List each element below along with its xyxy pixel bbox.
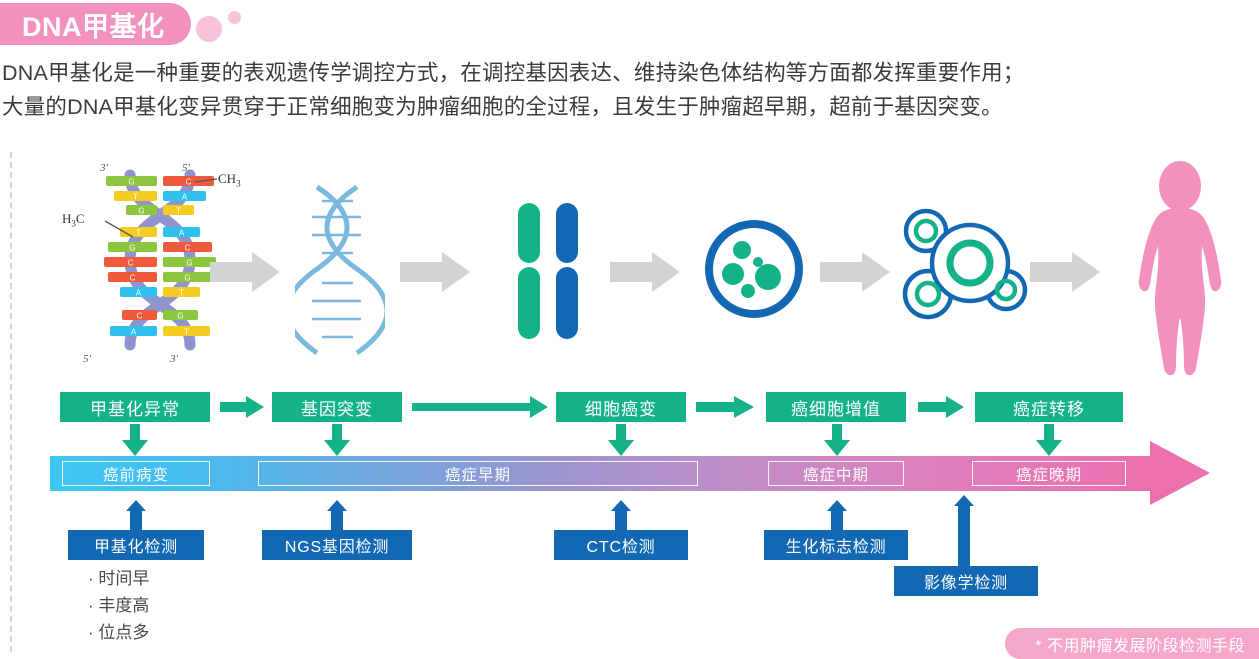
process-step-3[interactable]: 细胞癌变 [556, 392, 686, 422]
process-arrow-1 [220, 396, 266, 418]
process-down-arrow-1 [122, 424, 148, 456]
svg-text:T: T [133, 193, 138, 202]
process-arrow-2 [412, 396, 550, 418]
normal-cell-icon [700, 215, 810, 325]
detection-item-3[interactable]: CTC检测 [554, 530, 688, 560]
human-body-icon [1125, 160, 1235, 380]
svg-text:G: G [138, 207, 144, 216]
svg-text:T: T [184, 328, 189, 337]
svg-text:G: G [128, 178, 134, 187]
detection-arrow-stem-5 [958, 504, 970, 566]
intro-line-1: DNA甲基化是一种重要的表观遗传学调控方式，在调控基因表达、维持染色体结构等方面… [2, 56, 1242, 90]
svg-text:G: G [186, 259, 192, 268]
process-arrow-3 [696, 396, 756, 418]
flow-arrow-grey-4 [820, 250, 895, 295]
detection-item-1[interactable]: 甲基化检测 [68, 530, 204, 560]
detection-item-5[interactable]: 影像学检测 [894, 566, 1038, 596]
advantage-item-1: · 时间早 [88, 565, 149, 592]
process-arrow-4 [918, 396, 966, 418]
svg-text:T: T [179, 289, 184, 298]
footnote-banner: * 不用肿瘤发展阶段检测手段 [1005, 628, 1259, 659]
svg-text:G: G [129, 244, 135, 253]
stage-segment-1[interactable]: 癌前病变 [62, 461, 210, 486]
process-step-4[interactable]: 癌细胞增值 [766, 392, 906, 422]
svg-text:T: T [136, 229, 141, 238]
illustration-strip: GCTAGTTAGCCGCGATCGAT 3' 5' 5' 3' CH3 H3C [0, 155, 1259, 385]
tumor-cell-cluster-icon [898, 205, 1028, 330]
dna-label-bottom-left: 5' [83, 353, 91, 365]
process-step-5[interactable]: 癌症转移 [975, 392, 1123, 422]
stage-bar-arrowhead [1150, 441, 1210, 505]
detection-arrow-stem-1 [130, 508, 142, 530]
stage-segment-3[interactable]: 癌症中期 [768, 461, 904, 486]
process-down-arrow-3 [608, 424, 634, 456]
svg-text:T: T [176, 207, 181, 216]
process-step-1[interactable]: 甲基化异常 [60, 392, 210, 422]
infographic-page: DNA甲基化 DNA甲基化是一种重要的表观遗传学调控方式，在调控基因表达、维持染… [0, 0, 1259, 659]
stage-segment-2[interactable]: 癌症早期 [258, 461, 698, 486]
flow-arrow-grey-1 [210, 250, 285, 295]
advantage-item-3: · 位点多 [88, 619, 149, 646]
process-down-arrow-4 [824, 424, 850, 456]
stage-segment-4[interactable]: 癌症晚期 [972, 461, 1126, 486]
chromosome-pair-icon [512, 203, 592, 343]
svg-text:C: C [186, 178, 192, 187]
decorative-dot-large [196, 16, 222, 42]
process-down-arrow-5 [1036, 424, 1062, 456]
svg-text:C: C [137, 312, 143, 321]
methyl-group-left-label: H3C [62, 211, 85, 229]
decorative-dot-small [228, 11, 241, 24]
dna-label-top-left: 3' [100, 162, 108, 174]
detection-item-2[interactable]: NGS基因检测 [262, 530, 412, 560]
flow-arrow-grey-5 [1030, 250, 1105, 295]
intro-paragraph: DNA甲基化是一种重要的表观遗传学调控方式，在调控基因表达、维持染色体结构等方面… [2, 56, 1242, 124]
svg-text:C: C [130, 274, 136, 283]
detection-item-4[interactable]: 生化标志检测 [764, 530, 908, 560]
page-title-badge: DNA甲基化 [0, 3, 191, 45]
svg-text:A: A [182, 193, 188, 202]
svg-text:C: C [185, 244, 191, 253]
detection-arrow-stem-3 [615, 508, 627, 530]
svg-text:C: C [128, 259, 134, 268]
detection-arrow-stem-4 [831, 508, 843, 530]
advantage-item-2: · 丰度高 [88, 592, 149, 619]
dna-label-bottom-right: 3' [170, 353, 178, 365]
svg-text:G: G [177, 312, 183, 321]
advantages-list: · 时间早 · 丰度高 · 位点多 [88, 565, 149, 646]
dna-label-top-right: 5' [182, 162, 190, 174]
detection-arrow-stem-2 [331, 508, 343, 530]
methyl-group-right-label: CH3 [218, 171, 241, 189]
flow-arrow-grey-2 [400, 250, 475, 295]
flow-arrow-grey-3 [610, 250, 685, 295]
svg-text:A: A [179, 229, 185, 238]
svg-text:G: G [184, 274, 190, 283]
dna-helix-icon [295, 183, 385, 358]
process-down-arrow-2 [324, 424, 350, 456]
process-step-2[interactable]: 基因突变 [272, 392, 402, 422]
intro-line-2: 大量的DNA甲基化变异贯穿于正常细胞变为肿瘤细胞的全过程，且发生于肿瘤超早期，超… [2, 90, 1242, 124]
svg-text:A: A [136, 289, 142, 298]
svg-text:A: A [131, 328, 137, 337]
